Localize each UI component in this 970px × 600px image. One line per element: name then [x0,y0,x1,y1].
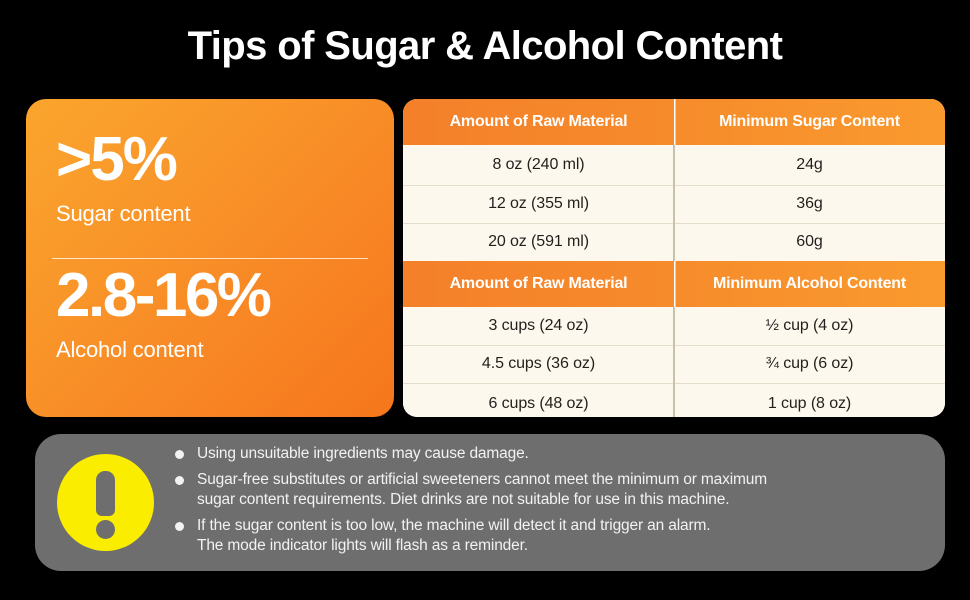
cell-amount: 3 cups (24 oz) [403,307,674,345]
cell-sugar: 24g [674,145,945,185]
alcohol-value: 2.8-16% [56,265,364,327]
exclamation-stem [96,471,115,516]
list-item: If the sugar content is too low, the mac… [175,516,935,556]
stat-card-divider [52,258,368,259]
cell-sugar: 36g [674,185,945,223]
sugar-value: >5% [56,129,364,191]
warning-list: Using unsuitable ingredients may cause d… [175,444,935,562]
sugar-table-col-1: Minimum Sugar Content [674,99,945,145]
tables-container: Amount of Raw Material Minimum Sugar Con… [403,99,945,417]
sugar-label: Sugar content [56,201,364,227]
cell-alcohol: ¾ cup (6 oz) [674,345,945,383]
bullet-icon [175,476,184,485]
stat-card: >5% Sugar content 2.8-16% Alcohol conten… [26,99,394,417]
list-item-line1: If the sugar content is too low, the mac… [197,516,935,536]
cell-amount: 6 cups (48 oz) [403,383,674,417]
cell-amount: 20 oz (591 ml) [403,223,674,261]
table-row: 12 oz (355 ml) 36g [403,185,945,223]
table-row: 6 cups (48 oz) 1 cup (8 oz) [403,383,945,417]
cell-sugar: 60g [674,223,945,261]
table-row: 20 oz (591 ml) 60g [403,223,945,261]
table-row: 8 oz (240 ml) 24g [403,145,945,185]
sugar-table-body: 8 oz (240 ml) 24g 12 oz (355 ml) 36g 20 … [403,145,945,261]
list-item: Sugar-free substitutes or artificial swe… [175,470,935,510]
sugar-table-header-row: Amount of Raw Material Minimum Sugar Con… [403,99,945,145]
infographic-root: Tips of Sugar & Alcohol Content >5% Suga… [0,0,970,600]
cell-amount: 8 oz (240 ml) [403,145,674,185]
list-item-line2: The mode indicator lights will flash as … [197,536,935,556]
sugar-table-col-0: Amount of Raw Material [403,99,674,145]
alcohol-table-header-row: Amount of Raw Material Minimum Alcohol C… [403,261,945,307]
list-item-line1: Sugar-free substitutes or artificial swe… [197,470,935,490]
table-row: 3 cups (24 oz) ½ cup (4 oz) [403,307,945,345]
list-item-line2: sugar content requirements. Diet drinks … [197,490,935,510]
cell-amount: 4.5 cups (36 oz) [403,345,674,383]
stat-block-alcohol: 2.8-16% Alcohol content [56,265,364,363]
list-item: Using unsuitable ingredients may cause d… [175,444,935,464]
table-row: 4.5 cups (36 oz) ¾ cup (6 oz) [403,345,945,383]
cell-alcohol: ½ cup (4 oz) [674,307,945,345]
exclamation-dot [96,520,115,539]
alcohol-table-col-0: Amount of Raw Material [403,261,674,307]
bullet-icon [175,450,184,459]
alcohol-table-body: 3 cups (24 oz) ½ cup (4 oz) 4.5 cups (36… [403,307,945,417]
alcohol-label: Alcohol content [56,337,364,363]
cell-amount: 12 oz (355 ml) [403,185,674,223]
alcohol-table-col-1: Minimum Alcohol Content [674,261,945,307]
cell-alcohol: 1 cup (8 oz) [674,383,945,417]
bullet-icon [175,522,184,531]
stat-block-sugar: >5% Sugar content [56,129,364,227]
list-item-line1: Using unsuitable ingredients may cause d… [197,444,935,464]
exclamation-mark-icon [57,454,154,551]
page-title: Tips of Sugar & Alcohol Content [0,24,970,68]
